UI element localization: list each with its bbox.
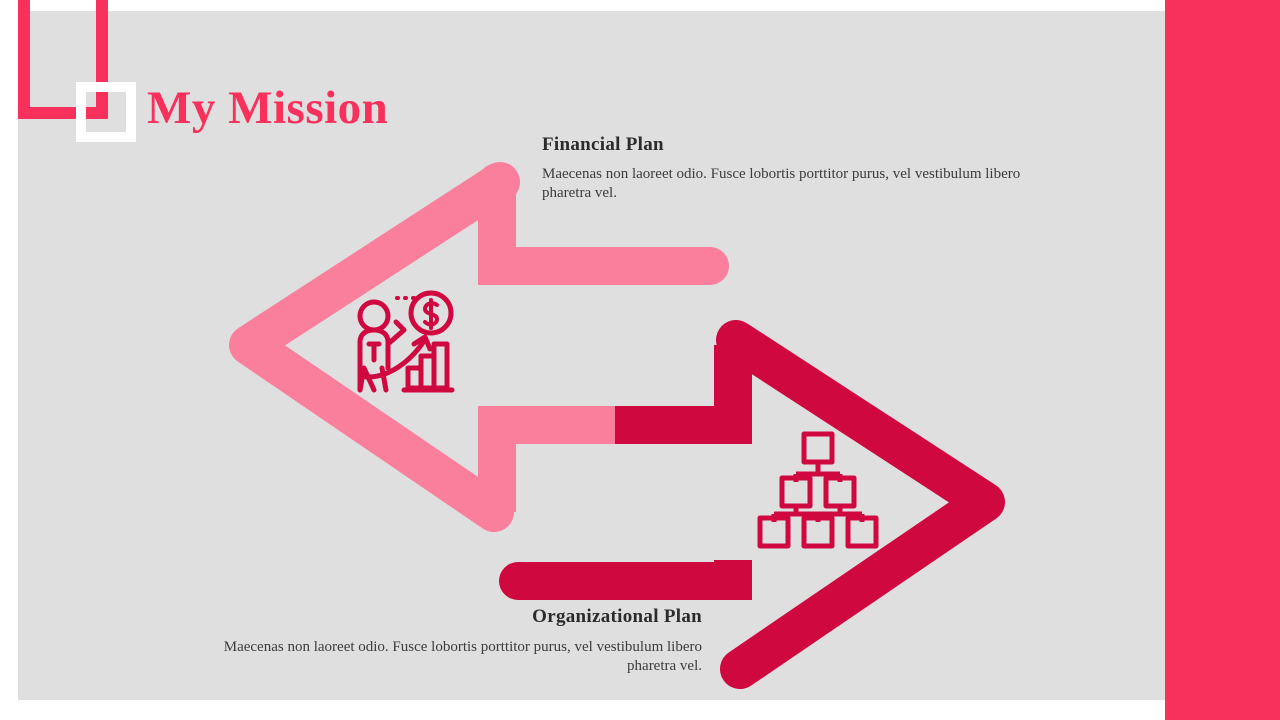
page-title: My Mission xyxy=(147,83,388,135)
right-accent-bar xyxy=(1165,0,1280,720)
financial-plan-body: Maecenas non laoreet odio. Fusce loborti… xyxy=(542,165,1062,203)
financial-plan-heading: Financial Plan xyxy=(542,134,1062,156)
organizational-plan-body: Maecenas non laoreet odio. Fusce loborti… xyxy=(180,638,702,676)
organizational-plan-heading: Organizational Plan xyxy=(180,606,702,628)
slide-canvas: My Mission Financial Plan Maecenas non l… xyxy=(0,0,1280,720)
financial-plan-text-block: Financial Plan Maecenas non laoreet odio… xyxy=(542,134,1062,203)
organizational-plan-text-block: Organizational Plan Maecenas non laoreet… xyxy=(180,606,702,676)
white-outline-square xyxy=(76,82,136,142)
